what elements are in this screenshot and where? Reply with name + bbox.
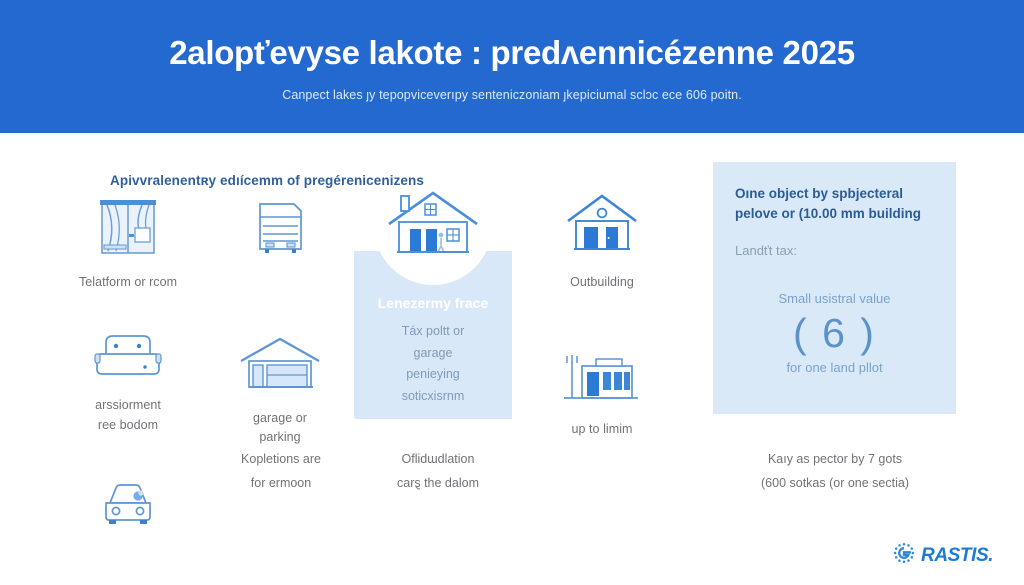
warehouse-icon	[556, 332, 648, 406]
note-kary: Kaıy as pector by 7 gots (600 sotkas (or…	[690, 447, 980, 496]
sofa-icon	[93, 308, 163, 382]
metric-label: Small usistral value	[735, 290, 934, 308]
note-oflidudlation: Oflidɯdlation carȿ the dalom	[348, 447, 528, 496]
right-info-panel[interactable]: Oıne object by spbjecteral pelove or (10…	[713, 162, 956, 414]
highlight-card[interactable]: Lenezermy frace Táx poltt or garage peni…	[354, 251, 512, 419]
brand-logo[interactable]: RASTIS.	[893, 542, 993, 569]
item-up-to-limim[interactable]: up to limim	[527, 332, 677, 439]
item-label: Telatform or rcom	[79, 273, 177, 292]
house-with-person-icon	[356, 188, 510, 264]
card-body: Táx poltt or garage penieying soticxisrn…	[402, 321, 465, 407]
item-telatform-or-room[interactable]: Telatform or rcom	[53, 185, 203, 292]
house-icon	[562, 185, 642, 259]
item-garage-or-parking[interactable]: garage or parking	[205, 321, 355, 448]
note-kopletions: Kopletions are for ermoon	[196, 447, 366, 496]
page-title: 2alopťevyse lakote : predʌennicézenne 20…	[169, 35, 855, 71]
car-front-icon	[92, 461, 164, 535]
card-text-block: Lenezermy frace Táx poltt or garage peni…	[354, 251, 512, 419]
icon-column-4: Outbuilding up to li	[527, 185, 677, 440]
header-band: 2alopťevyse lakote : predʌennicézenne 20…	[0, 0, 1024, 133]
item-arssiorment[interactable]: arssiorment ree bodom	[53, 308, 203, 435]
item-car[interactable]	[53, 461, 203, 549]
metric-value: ( 6 )	[735, 310, 934, 357]
circular-dots-logo-icon	[893, 542, 915, 569]
right-panel-subheading: Landťt tax:	[735, 242, 934, 260]
card-title: Lenezermy frace	[378, 294, 489, 312]
item-label: garage or parking	[253, 409, 307, 448]
icon-column-2: garage or parking	[205, 185, 355, 448]
page-subtitle: Canpect lakes ȷy tepopviceverıpy senteni…	[282, 88, 742, 102]
item-label: Outbuilding	[570, 273, 634, 292]
item-label: up to limim	[572, 420, 633, 439]
metric-footnote: for one land pllot	[735, 359, 934, 377]
right-panel-heading: Oıne object by spbjecteral pelove or (10…	[735, 184, 934, 225]
cabinet-drawers-icon	[249, 185, 311, 259]
item-outbuilding[interactable]: Outbuilding	[527, 185, 677, 292]
garage-icon	[235, 321, 325, 395]
icon-column-1: Telatform or rcom arssiorment ree bodom	[53, 185, 203, 549]
item-label: arssiorment ree bodom	[95, 396, 161, 435]
logo-wordmark: RASTIS.	[921, 545, 993, 567]
infographic-slide: 2alopťevyse lakote : predʌennicézenne 20…	[0, 0, 1024, 585]
window-curtains-icon	[95, 185, 161, 259]
body-area: Apivvralenentʀy edıícemm of pregérenicen…	[0, 133, 1024, 585]
item-cabinet[interactable]	[205, 185, 355, 273]
